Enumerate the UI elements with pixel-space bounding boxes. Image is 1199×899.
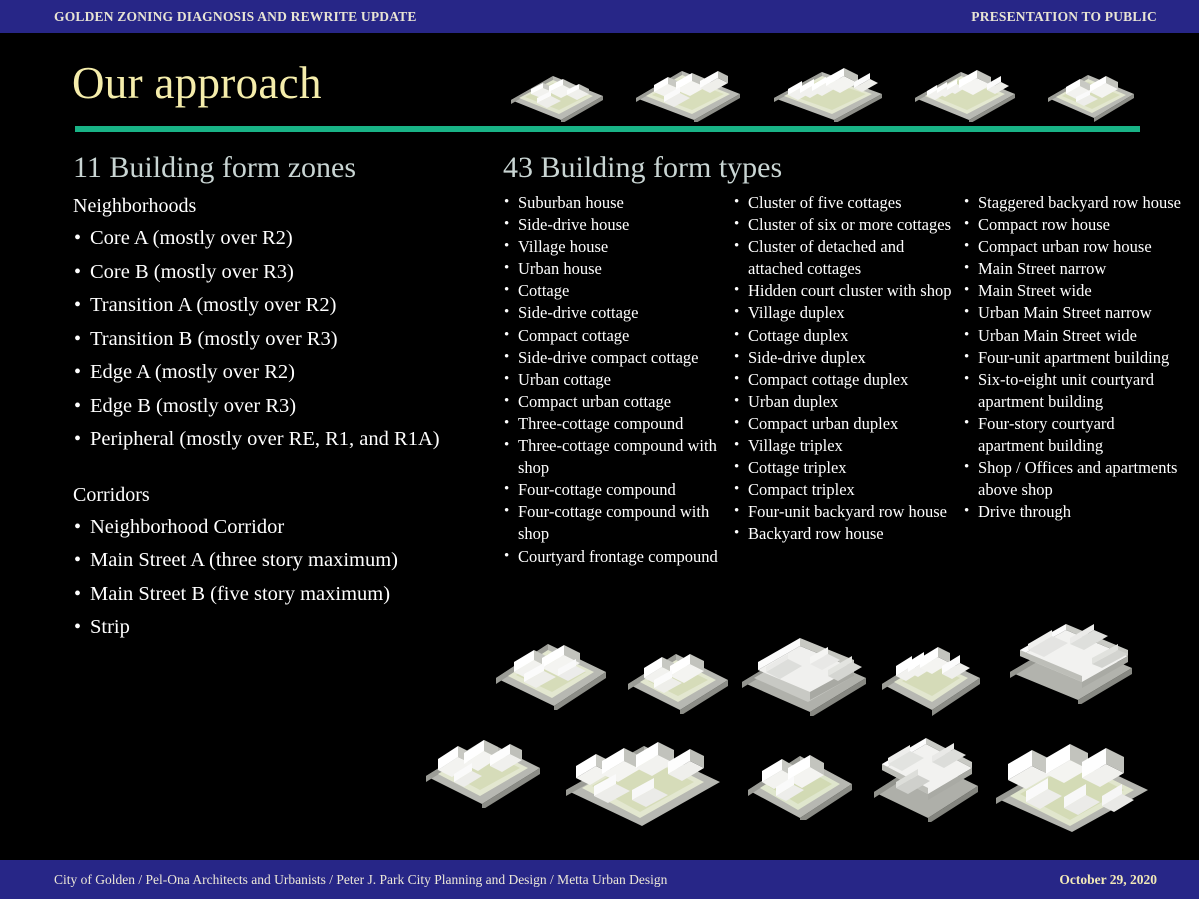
footer-date: October 29, 2020 <box>1059 872 1157 888</box>
types-list-1: Suburban house Side-drive house Village … <box>500 192 730 568</box>
list-item: Cluster of detached and attached cottage… <box>730 236 960 280</box>
group-heading-corridors: Corridors <box>73 481 495 509</box>
model-cottage-cluster-3 <box>742 728 858 820</box>
list-item: Cluster of six or more cottages <box>730 214 960 236</box>
zones-group-neighborhoods: Neighborhoods Core A (mostly over R2) Co… <box>70 192 495 457</box>
list-item: Side-drive duplex <box>730 347 960 369</box>
list-item: Four-unit apartment building <box>960 347 1188 369</box>
list-item: Shop / Offices and apartments above shop <box>960 457 1188 501</box>
types-columns: Suburban house Side-drive house Village … <box>500 192 1190 568</box>
list-item: Compact urban cottage <box>500 391 730 413</box>
model-compound-1 <box>909 48 1021 122</box>
list-item: Urban Main Street wide <box>960 325 1188 347</box>
list-item: Compact triplex <box>730 479 960 501</box>
list-item: Neighborhood Corridor <box>70 511 495 545</box>
zones-heading: 11 Building form zones <box>73 150 495 186</box>
model-row-house-block <box>876 626 986 716</box>
list-item: Staggered backyard row house <box>960 192 1188 214</box>
model-three-cottage-compound <box>420 714 546 808</box>
model-courtyard-apartment <box>488 618 612 710</box>
list-item: Main Street A (three story maximum) <box>70 544 495 578</box>
slide-footer-bar: City of Golden / Pel-Ona Architects and … <box>0 860 1199 899</box>
zones-list-neighborhoods: Core A (mostly over R2) Core B (mostly o… <box>70 222 495 457</box>
list-item: Urban cottage <box>500 369 730 391</box>
slide-header-bar: GOLDEN ZONING DIAGNOSIS AND REWRITE UPDA… <box>0 0 1199 33</box>
list-item: Urban Main Street narrow <box>960 302 1188 324</box>
list-item: Courtyard frontage compound <box>500 546 730 568</box>
list-item: Cluster of five cottages <box>730 192 960 214</box>
list-item: Drive through <box>960 501 1188 523</box>
types-list-3: Staggered backyard row house Compact row… <box>960 192 1188 523</box>
list-item: Side-drive compact cottage <box>500 347 730 369</box>
list-item: Main Street wide <box>960 280 1188 302</box>
list-item: Compact cottage duplex <box>730 369 960 391</box>
title-underline-rule <box>75 126 1140 132</box>
model-cottage-cluster-1 <box>505 50 609 122</box>
top-building-model-strip <box>505 44 1140 122</box>
list-item: Three-cottage compound with shop <box>500 435 730 479</box>
types-list-2: Cluster of five cottages Cluster of six … <box>730 192 960 546</box>
list-item: Backyard row house <box>730 523 960 545</box>
model-four-cottage-compound <box>558 716 728 826</box>
list-item: Four-story courtyard apartment building <box>960 413 1188 457</box>
list-item: Main Street narrow <box>960 258 1188 280</box>
page-title: Our approach <box>72 57 322 109</box>
list-item: Hidden court cluster with shop <box>730 280 960 302</box>
list-item: Four-cottage compound with shop <box>500 501 730 545</box>
list-item: Cottage duplex <box>730 325 960 347</box>
header-left-title: GOLDEN ZONING DIAGNOSIS AND REWRITE UPDA… <box>54 9 417 25</box>
types-column-3: Staggered backyard row house Compact row… <box>960 192 1188 568</box>
model-courtyard-compound <box>620 628 734 714</box>
list-item: Cottage <box>500 280 730 302</box>
list-item: Core A (mostly over R2) <box>70 222 495 256</box>
types-column-1: Suburban house Side-drive house Village … <box>500 192 730 568</box>
model-row-house-1 <box>768 48 888 122</box>
list-item: Transition B (mostly over R3) <box>70 323 495 357</box>
list-item: Cottage triplex <box>730 457 960 479</box>
model-urban-main-street <box>988 722 1156 832</box>
model-main-street-wide <box>736 620 872 716</box>
model-cottage-cluster-2 <box>630 46 746 122</box>
list-item: Compact urban duplex <box>730 413 960 435</box>
list-item: Four-unit backyard row house <box>730 501 960 523</box>
list-item: Urban duplex <box>730 391 960 413</box>
bottom-building-model-grid <box>410 604 1170 844</box>
list-item: Six-to-eight unit courtyard apartment bu… <box>960 369 1188 413</box>
list-item: Transition A (mostly over R2) <box>70 289 495 323</box>
list-item: Edge B (mostly over R3) <box>70 390 495 424</box>
model-duplex-1 <box>1042 50 1140 122</box>
types-heading: 43 Building form types <box>503 150 1190 186</box>
list-item: Village duplex <box>730 302 960 324</box>
building-form-zones-section: 11 Building form zones Neighborhoods Cor… <box>70 150 495 645</box>
group-heading-neighborhoods: Neighborhoods <box>73 192 495 220</box>
presentation-slide: GOLDEN ZONING DIAGNOSIS AND REWRITE UPDA… <box>0 0 1199 899</box>
list-item: Side-drive house <box>500 214 730 236</box>
footer-credits: City of Golden / Pel-Ona Architects and … <box>54 872 667 888</box>
zones-group-spacer <box>70 457 495 477</box>
list-item: Suburban house <box>500 192 730 214</box>
list-item: Core B (mostly over R3) <box>70 256 495 290</box>
list-item: Side-drive cottage <box>500 302 730 324</box>
header-right-title: PRESENTATION TO PUBLIC <box>971 9 1157 25</box>
list-item: Compact urban row house <box>960 236 1188 258</box>
building-form-types-section: 43 Building form types Suburban house Si… <box>500 150 1190 568</box>
model-large-apartment <box>1004 612 1138 704</box>
list-item: Four-cottage compound <box>500 479 730 501</box>
list-item: Three-cottage compound <box>500 413 730 435</box>
model-shop-offices <box>868 726 984 822</box>
list-item: Village triplex <box>730 435 960 457</box>
list-item: Compact row house <box>960 214 1188 236</box>
list-item: Village house <box>500 236 730 258</box>
list-item: Edge A (mostly over R2) <box>70 356 495 390</box>
types-column-2: Cluster of five cottages Cluster of six … <box>730 192 960 568</box>
list-item: Peripheral (mostly over RE, R1, and R1A) <box>70 423 495 457</box>
list-item: Compact cottage <box>500 325 730 347</box>
list-item: Urban house <box>500 258 730 280</box>
